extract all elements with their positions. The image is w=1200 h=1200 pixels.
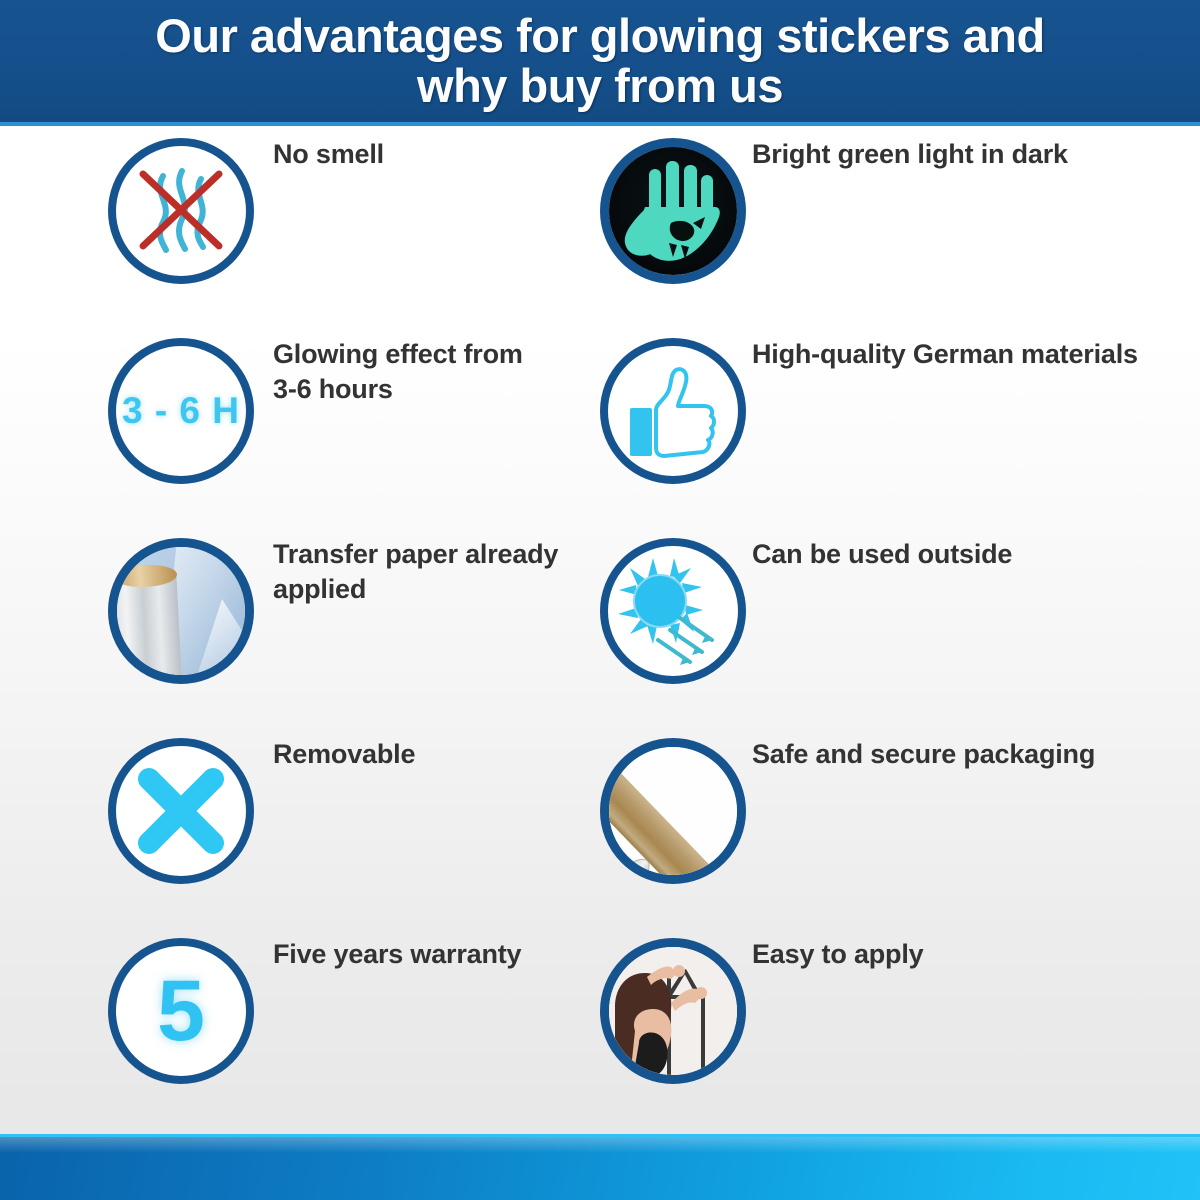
three-to-six-hours-badge: 3 - 6 H bbox=[108, 338, 254, 484]
feature-label-bright-green-light: Bright green light in dark bbox=[752, 137, 1152, 172]
feature-label-safe-packaging: Safe and secure packaging bbox=[752, 737, 1152, 772]
feature-cell-glowing-duration[interactable]: 3 - 6 H Glowing effect from 3-6 hours bbox=[108, 326, 668, 526]
feature-cell-easy-apply[interactable]: Easy to apply bbox=[600, 926, 1160, 1126]
transfer-paper-roll-badge bbox=[108, 538, 254, 684]
feature-cell-outdoor-use[interactable]: Can be used outside bbox=[600, 526, 1160, 726]
feature-cell-transfer-paper[interactable]: Transfer paper already applied bbox=[108, 526, 668, 726]
five-years-badge: 5 bbox=[108, 938, 254, 1084]
three-to-six-hours-icon: 3 - 6 H bbox=[122, 390, 240, 432]
thumbs-up-badge bbox=[600, 338, 746, 484]
feature-cell-safe-packaging[interactable]: Safe and secure packaging bbox=[600, 726, 1160, 926]
feature-cell-warranty[interactable]: 5 Five years warranty bbox=[108, 926, 668, 1126]
feature-label-easy-apply: Easy to apply bbox=[752, 937, 1152, 972]
no-smell-icon bbox=[116, 146, 246, 276]
glowing-handprint-icon bbox=[609, 147, 739, 277]
feature-cell-no-smell[interactable]: No smell bbox=[108, 126, 668, 326]
no-smell-badge bbox=[108, 138, 254, 284]
page-header: Our advantages for glowing stickers and … bbox=[0, 0, 1200, 126]
feature-row-4: Removable Safe and secure packaging bbox=[0, 726, 1200, 926]
feature-cell-bright-green-light[interactable]: Bright green light in dark bbox=[600, 126, 1160, 326]
feature-row-3: Transfer paper already applied bbox=[0, 526, 1200, 726]
footer-bar bbox=[0, 1134, 1200, 1200]
mailing-tube-icon bbox=[609, 747, 737, 875]
feature-label-german-materials: High-quality German materials bbox=[752, 337, 1152, 372]
feature-row-2: 3 - 6 H Glowing effect from 3-6 hours Hi… bbox=[0, 326, 1200, 526]
woman-applying-sticker-badge bbox=[600, 938, 746, 1084]
x-cross-badge bbox=[108, 738, 254, 884]
footer-gloss bbox=[0, 1137, 1200, 1153]
x-cross-icon bbox=[116, 746, 246, 876]
features-grid: No smell bbox=[0, 126, 1200, 1126]
feature-cell-german-materials[interactable]: High-quality German materials bbox=[600, 326, 1160, 526]
page-title-line-1: Our advantages for glowing stickers and bbox=[155, 9, 1044, 62]
page-title-line-2: why buy from us bbox=[10, 61, 1190, 111]
feature-cell-removable[interactable]: Removable bbox=[108, 726, 668, 926]
thumbs-up-icon bbox=[608, 346, 738, 476]
sun-with-rays-icon bbox=[608, 546, 738, 676]
transfer-paper-roll-icon bbox=[117, 547, 245, 675]
feature-row-5: 5 Five years warranty bbox=[0, 926, 1200, 1126]
mailing-tube-badge bbox=[600, 738, 746, 884]
five-years-icon: 5 bbox=[157, 968, 205, 1054]
feature-label-outdoor-use: Can be used outside bbox=[752, 537, 1152, 572]
feature-row-1: No smell bbox=[0, 126, 1200, 326]
glowing-handprint-badge bbox=[600, 138, 746, 284]
sun-with-rays-badge bbox=[600, 538, 746, 684]
woman-applying-sticker-icon bbox=[609, 947, 739, 1077]
page-title: Our advantages for glowing stickers and … bbox=[10, 11, 1190, 112]
